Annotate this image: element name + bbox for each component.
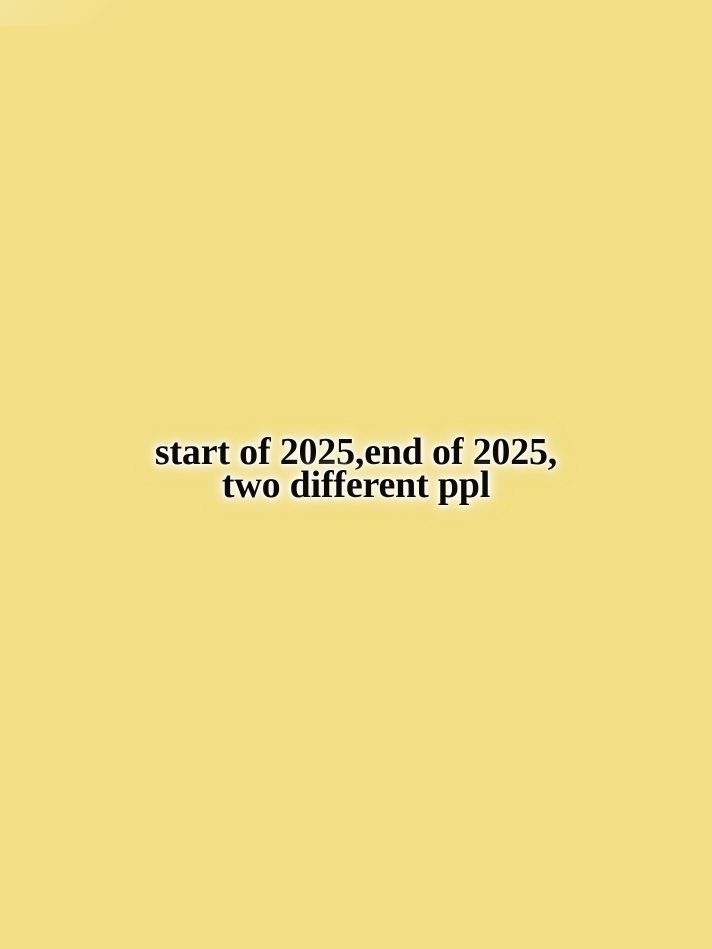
caption-line-2: two different ppl <box>0 469 712 502</box>
caption-text-overlay: start of 2025,end of 2025, two different… <box>0 436 712 502</box>
corner-light-wash <box>0 0 150 26</box>
video-frame: start of 2025,end of 2025, two different… <box>0 0 712 949</box>
